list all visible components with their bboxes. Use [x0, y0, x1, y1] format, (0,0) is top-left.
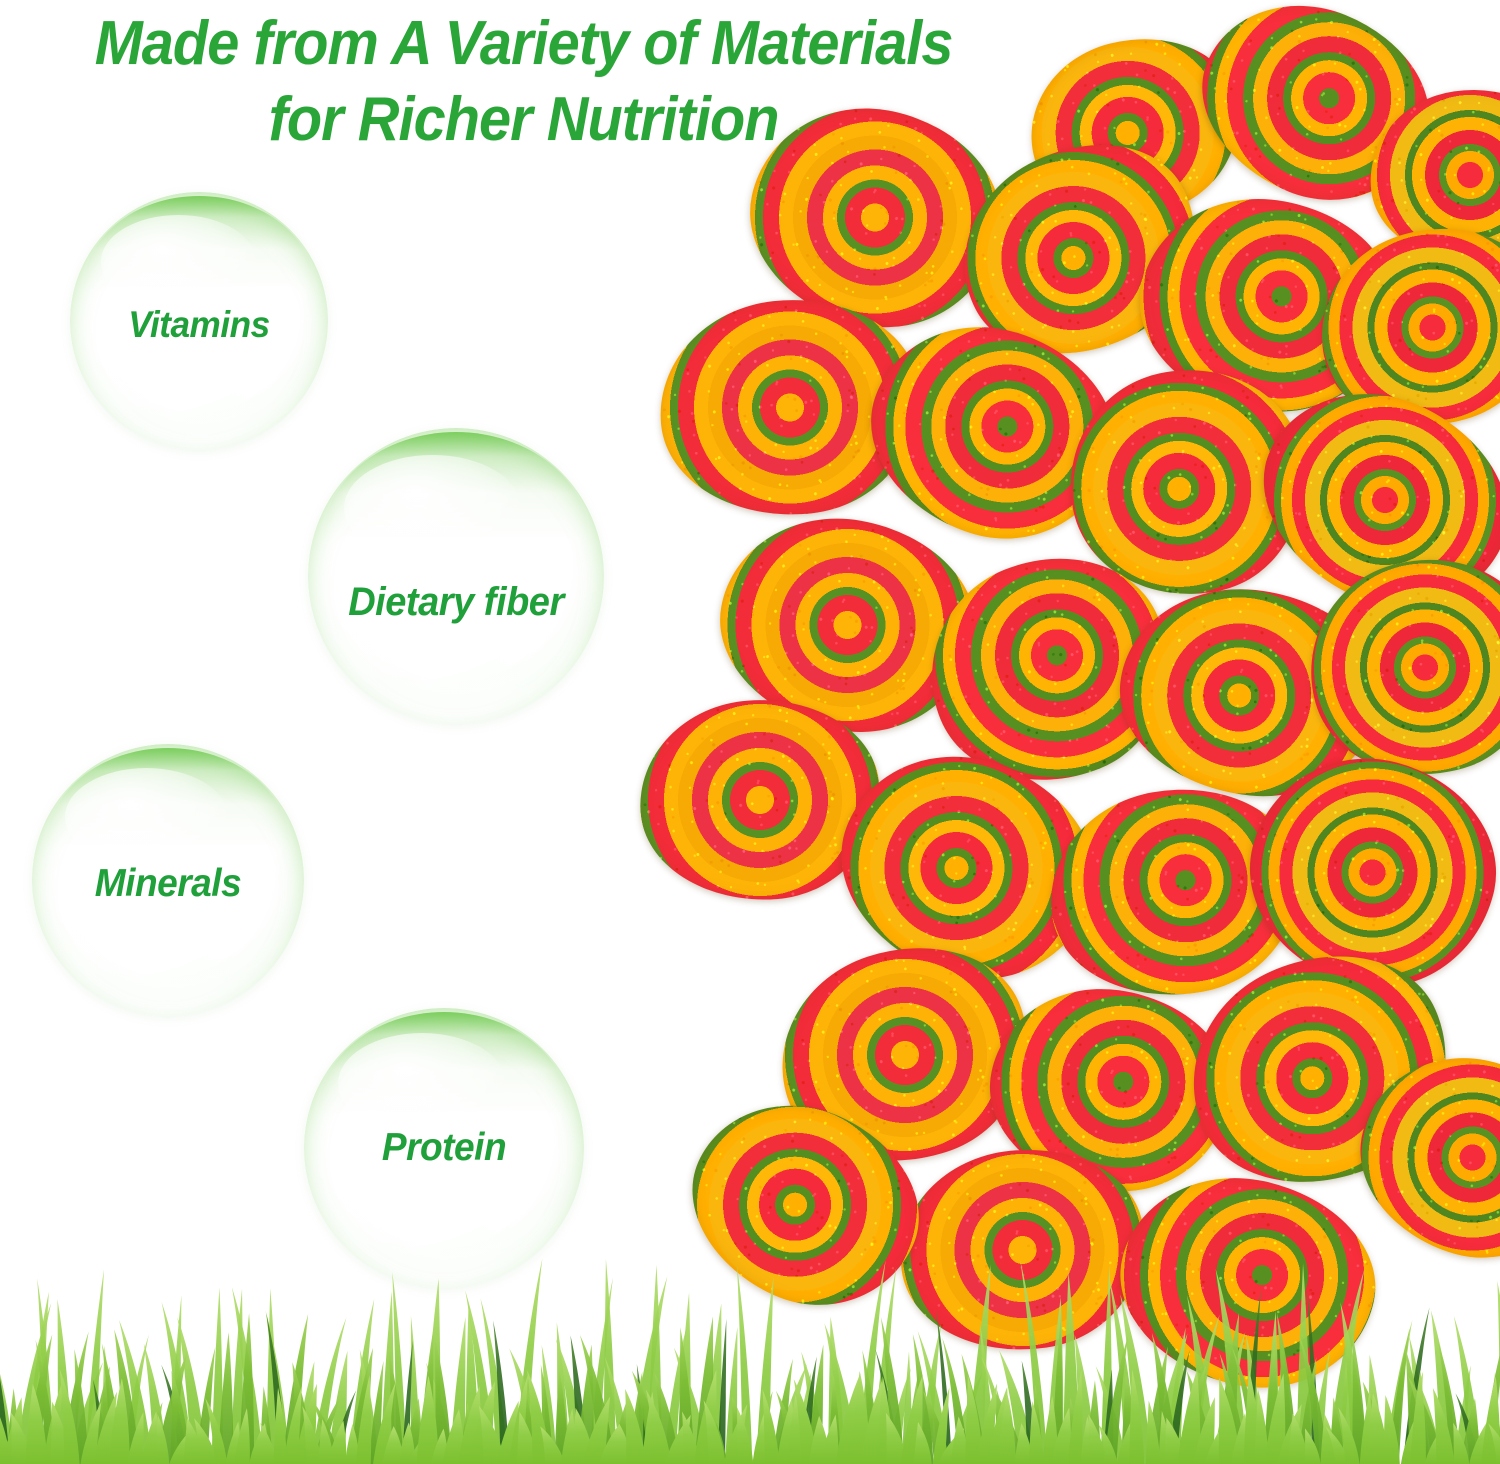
page-title: Made from A Variety of Materials for Ric… [40, 6, 1007, 158]
nutrient-bubble-label: Vitamins [76, 304, 321, 346]
nutrient-bubble-vitamins[interactable]: Vitamins [70, 192, 328, 450]
nutrient-bubble-label: Protein [311, 1126, 577, 1170]
nutrient-bubble-minerals[interactable]: Minerals [32, 744, 304, 1016]
product-treat-pile [600, 0, 1500, 1400]
grass-border [0, 1249, 1500, 1464]
nutrient-bubble-dietary-fiber[interactable]: Dietary fiber [308, 428, 604, 724]
nutrient-bubble-label: Dietary fiber [315, 580, 596, 625]
promo-banner: Made from A Variety of Materials for Ric… [0, 0, 1500, 1464]
nutrient-bubble-label: Minerals [39, 862, 297, 906]
nutrient-bubble-protein[interactable]: Protein [304, 1008, 584, 1288]
